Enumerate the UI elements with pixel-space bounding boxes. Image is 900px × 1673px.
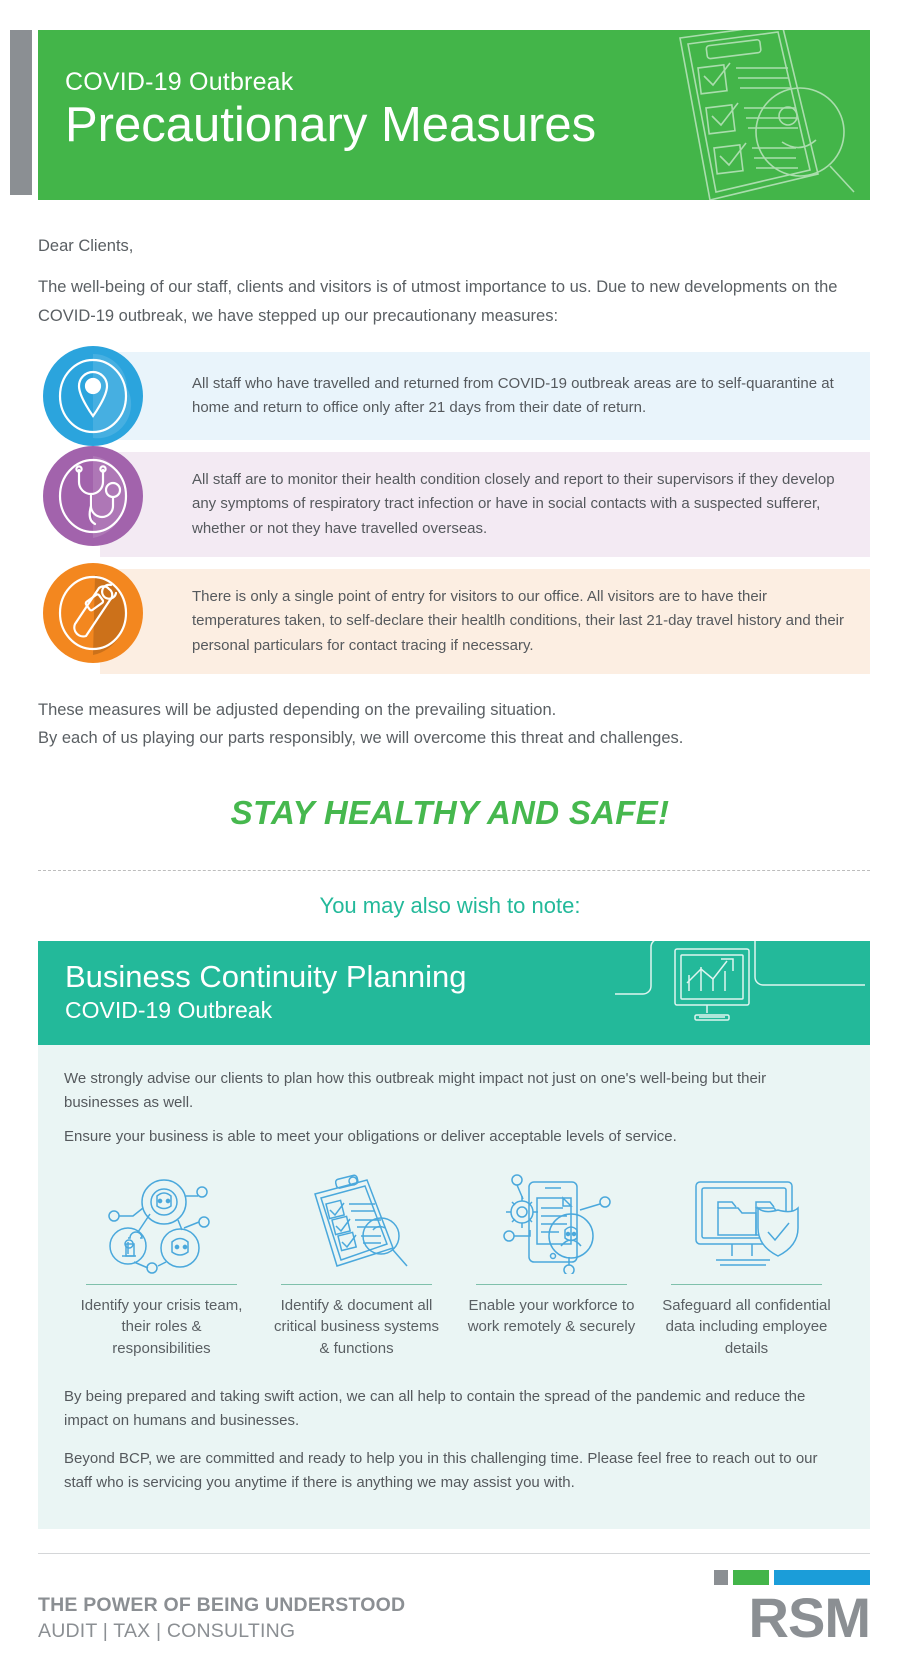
clipboard-checklist-magnifier-icon [267, 1171, 446, 1276]
closing-block: These measures will be adjusted dependin… [38, 696, 862, 752]
logo-bar-grey [714, 1570, 728, 1585]
bcp-columns: Identify your crisis team, their roles &… [64, 1171, 844, 1359]
grey-accent-tab [10, 30, 32, 195]
bcp-column: Safeguard all confidential data includin… [649, 1171, 844, 1359]
header-eyebrow: COVID-19 Outbreak [65, 68, 596, 97]
bcp-card: Business Continuity Planning COVID-19 Ou… [38, 941, 870, 1529]
bcp-column: Identify your crisis team, their roles &… [64, 1171, 259, 1359]
bcp-column: Identify & document all critical busines… [259, 1171, 454, 1359]
data-shield-monitor-icon [657, 1171, 836, 1276]
measure-item: There is only a single point of entry fo… [38, 569, 870, 674]
page-header: COVID-19 Outbreak Precautionary Measures [0, 30, 900, 210]
thermometer-icon [43, 563, 143, 663]
logo-bar-blue [774, 1570, 870, 1585]
closing-line-1: These measures will be adjusted dependin… [38, 696, 862, 724]
column-divider [281, 1284, 432, 1285]
column-caption: Enable your workforce to work remotely &… [462, 1295, 641, 1338]
bcp-body: We strongly advise our clients to plan h… [38, 1045, 870, 1529]
note-heading: You may also wish to note: [0, 893, 900, 919]
salutation: Dear Clients, [38, 232, 862, 260]
bcp-intro-2: Ensure your business is able to meet you… [64, 1125, 844, 1149]
crisis-team-network-icon [72, 1171, 251, 1276]
location-pin-icon [43, 346, 143, 446]
brand-logo: RSM [714, 1570, 870, 1644]
measure-text: All staff who have travelled and returne… [192, 372, 850, 421]
measures-list: All staff who have travelled and returne… [0, 352, 900, 674]
monitor-growth-chart-icon [615, 941, 865, 1045]
measure-band: All staff who have travelled and returne… [100, 352, 870, 440]
remote-work-device-icon [462, 1171, 641, 1276]
header-banner: COVID-19 Outbreak Precautionary Measures [38, 30, 870, 200]
logo-bars [714, 1570, 870, 1585]
footer-services: AUDIT | TAX | CONSULTING [38, 1620, 405, 1643]
footer-divider [38, 1553, 870, 1554]
column-caption: Identify & document all critical busines… [267, 1295, 446, 1359]
checklist-magnifier-icon [632, 30, 862, 200]
column-caption: Safeguard all confidential data includin… [657, 1295, 836, 1359]
intro-block: Dear Clients, The well-being of our staf… [38, 232, 862, 330]
measure-text: All staff are to monitor their health co… [192, 468, 850, 541]
bcp-header: Business Continuity Planning COVID-19 Ou… [38, 941, 870, 1045]
stay-safe-callout: STAY HEALTHY AND SAFE! [0, 794, 900, 832]
bcp-intro-1: We strongly advise our clients to plan h… [64, 1067, 844, 1115]
column-divider [671, 1284, 822, 1285]
logo-bar-green [733, 1570, 769, 1585]
rsm-wordmark: RSM [714, 1592, 870, 1644]
bcp-tail: By being prepared and taking swift actio… [64, 1385, 844, 1495]
measure-band: All staff are to monitor their health co… [100, 452, 870, 557]
dashed-divider [38, 870, 870, 871]
measure-band: There is only a single point of entry fo… [100, 569, 870, 674]
closing-line-2: By each of us playing our parts responsi… [38, 724, 862, 752]
column-caption: Identify your crisis team, their roles &… [72, 1295, 251, 1359]
footer-text: THE POWER OF BEING UNDERSTOOD AUDIT | TA… [38, 1594, 405, 1643]
measure-item: All staff are to monitor their health co… [38, 452, 870, 557]
footer-tagline: THE POWER OF BEING UNDERSTOOD [38, 1594, 405, 1617]
bcp-column: Enable your workforce to work remotely &… [454, 1171, 649, 1359]
column-divider [476, 1284, 627, 1285]
stethoscope-icon [43, 446, 143, 546]
intro-paragraph: The well-being of our staff, clients and… [38, 273, 862, 330]
page-title: Precautionary Measures [65, 99, 596, 152]
bcp-tail-2: Beyond BCP, we are committed and ready t… [64, 1447, 844, 1495]
column-divider [86, 1284, 237, 1285]
measure-text: There is only a single point of entry fo… [192, 585, 850, 658]
page-footer: THE POWER OF BEING UNDERSTOOD AUDIT | TA… [38, 1570, 870, 1644]
bcp-tail-1: By being prepared and taking swift actio… [64, 1385, 844, 1433]
measure-item: All staff who have travelled and returne… [38, 352, 870, 440]
